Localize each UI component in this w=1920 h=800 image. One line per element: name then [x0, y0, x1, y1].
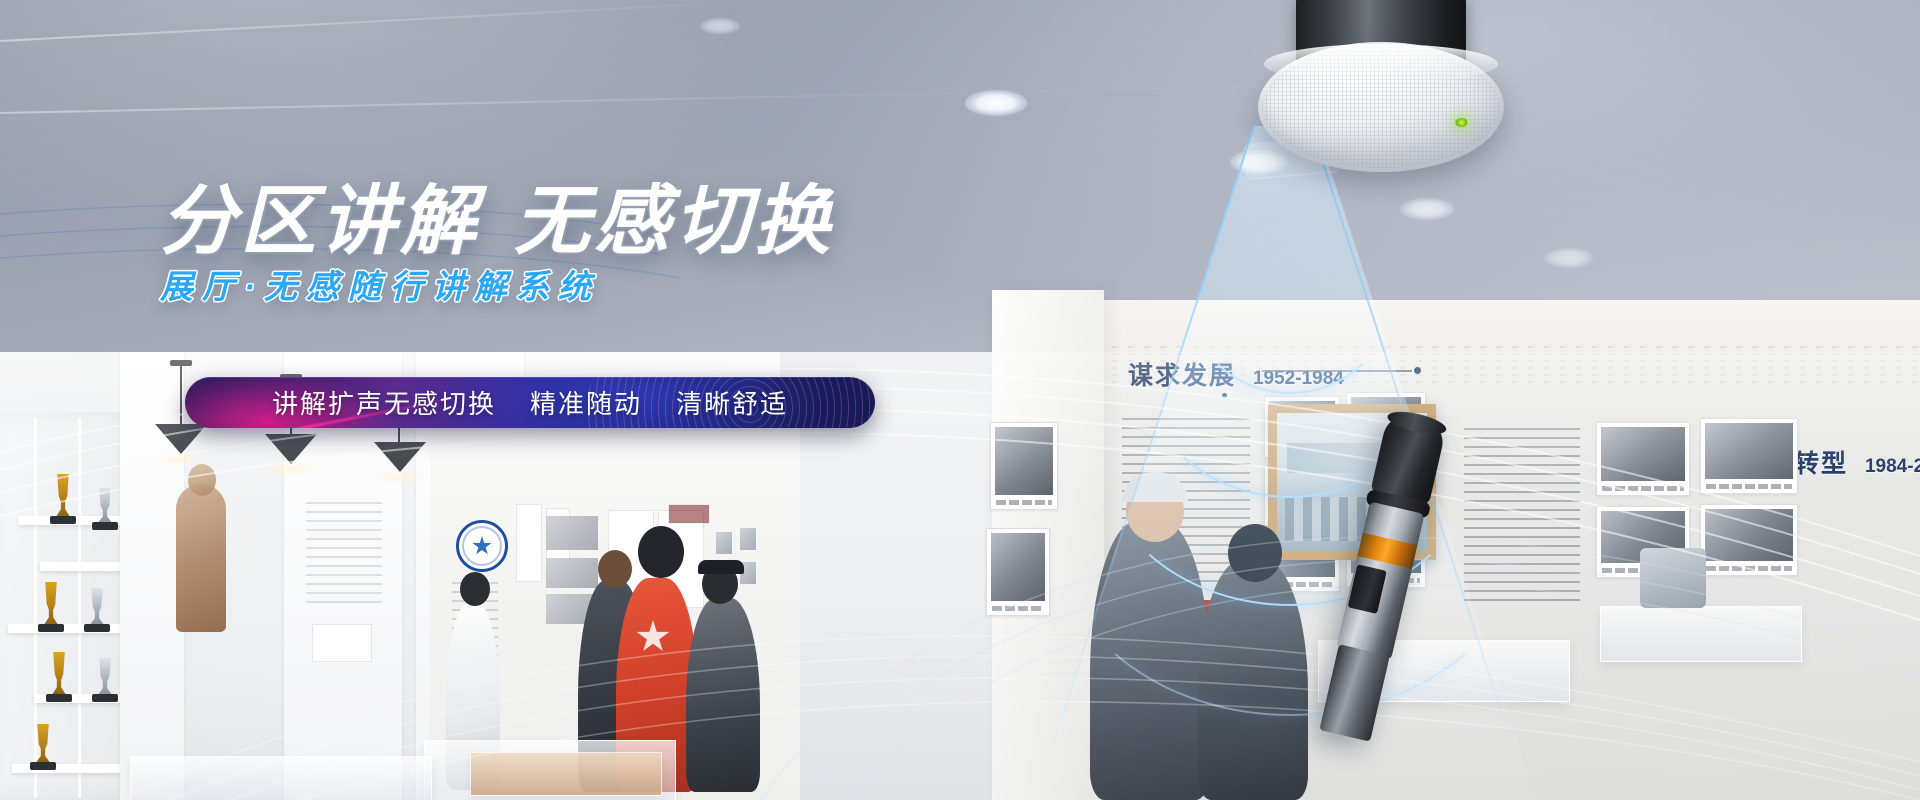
- headline-part-2: 无感切换: [514, 179, 834, 264]
- display-case: [130, 756, 432, 800]
- page-title: 分区讲解无感切换: [160, 183, 834, 261]
- display-artifact: [1640, 548, 1706, 608]
- feature-item-3: 清晰舒适: [676, 384, 788, 421]
- hall-center-area: [430, 412, 800, 800]
- speaker-led-indicator: [1455, 118, 1468, 127]
- ceiling-seam-secondary: [0, 0, 759, 42]
- feature-pill-text: 讲解扩声无感切换 精准随动 清晰舒适: [185, 377, 875, 428]
- school-emblem: [456, 520, 508, 572]
- mic-handle: [1319, 644, 1389, 741]
- visitor: [1090, 520, 1210, 800]
- visitor-head: [1228, 524, 1282, 582]
- display-case: [1600, 606, 1802, 662]
- visitor-cap: [698, 560, 744, 574]
- ceiling-seam: [0, 72, 1920, 114]
- ceiling-downlight: [1545, 248, 1593, 268]
- visitor: [686, 598, 760, 792]
- headline-part-1: 分区讲解: [160, 179, 480, 264]
- wall-section-title-1: 谋求发展 1952-1984: [1128, 356, 1344, 392]
- ceiling-downlight: [965, 90, 1027, 116]
- visitor-head: [460, 572, 490, 606]
- visitor: [1198, 560, 1308, 800]
- visitor-head: [638, 526, 684, 578]
- feature-pill-banner: 讲解扩声无感切换 精准随动 清晰舒适: [185, 377, 875, 428]
- banner-stage: 谋求发展 1952-1984 改革转型 1984-2010: [0, 0, 1920, 800]
- ceiling-downlight: [1400, 198, 1454, 220]
- feature-item-1: 讲解扩声无感切换: [272, 384, 496, 421]
- page-subtitle: 展厅·无感随行讲解系统: [160, 260, 600, 308]
- ceiling-downlight: [700, 18, 740, 34]
- ceiling-speaker: [1258, 0, 1504, 184]
- visitor-head: [598, 550, 632, 588]
- feature-item-2: 精准随动: [530, 384, 642, 421]
